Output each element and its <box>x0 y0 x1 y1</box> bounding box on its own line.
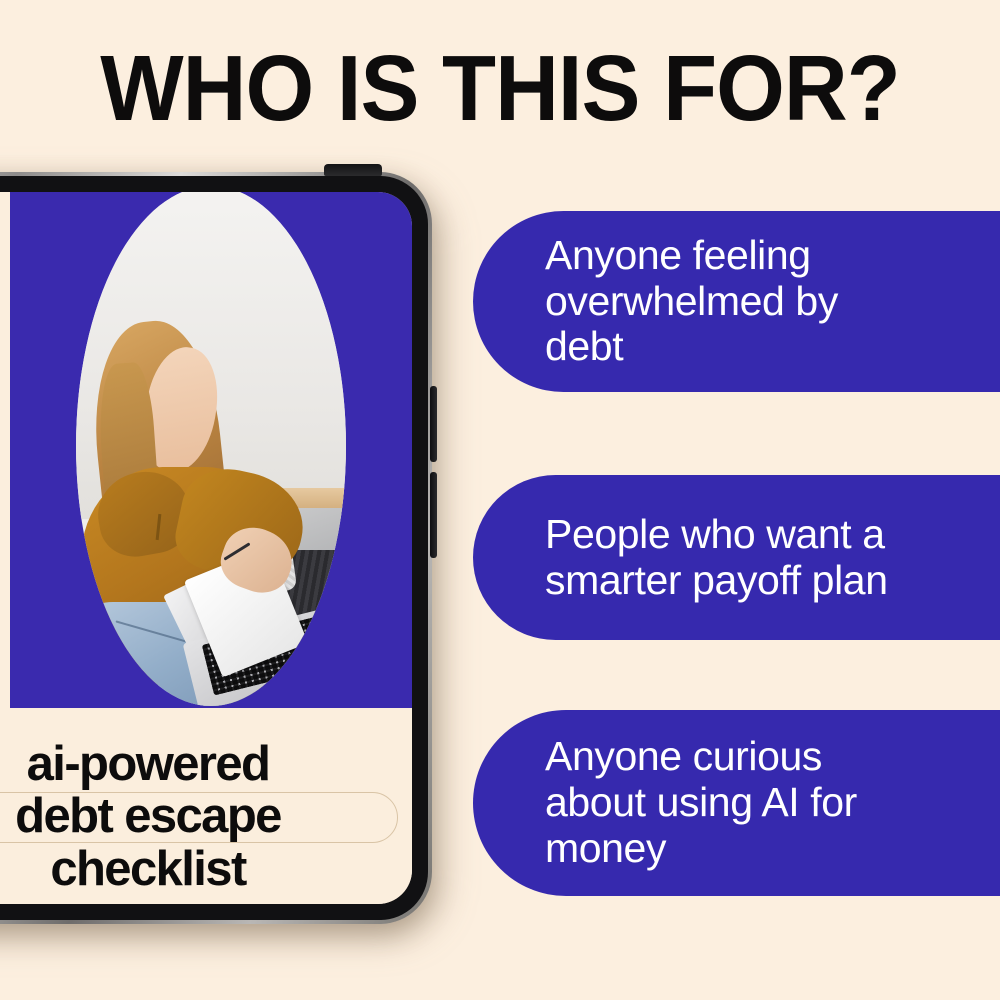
tablet-mockup: ai-powered debt escape checklist checkli… <box>0 172 432 924</box>
benefit-pill-2: People who want a smarter payoff plan <box>473 475 1000 640</box>
product-title-line-1: ai-powered <box>0 738 394 790</box>
product-title-block: ai-powered debt escape checklist <box>0 708 412 904</box>
volume-up-button-icon[interactable] <box>430 386 437 462</box>
volume-down-button-icon[interactable] <box>430 472 437 558</box>
slide-canvas: WHO IS THIS FOR? <box>0 0 1000 1000</box>
power-button-icon[interactable] <box>324 164 382 176</box>
benefit-text-2: People who want a smarter payoff plan <box>545 512 888 604</box>
benefit-text-3: Anyone curious about using AI for money <box>545 734 857 872</box>
tablet-screen: ai-powered debt escape checklist <box>0 192 412 904</box>
screen-left-gutter <box>0 192 10 708</box>
page-title: WHO IS THIS FOR? <box>25 42 975 135</box>
benefit-pill-1: Anyone feeling overwhelmed by debt <box>473 211 1000 392</box>
hero-photo <box>76 192 346 706</box>
benefit-pill-3: Anyone curious about using AI for money <box>473 710 1000 896</box>
screen-hero <box>0 192 412 708</box>
product-title-line-3: checklist <box>0 843 394 895</box>
benefit-text-1: Anyone feeling overwhelmed by debt <box>545 233 838 371</box>
product-title-line-2-wrapper: debt escape <box>0 790 394 842</box>
photo-panel <box>10 192 412 708</box>
product-title-line-2: debt escape <box>0 790 394 842</box>
